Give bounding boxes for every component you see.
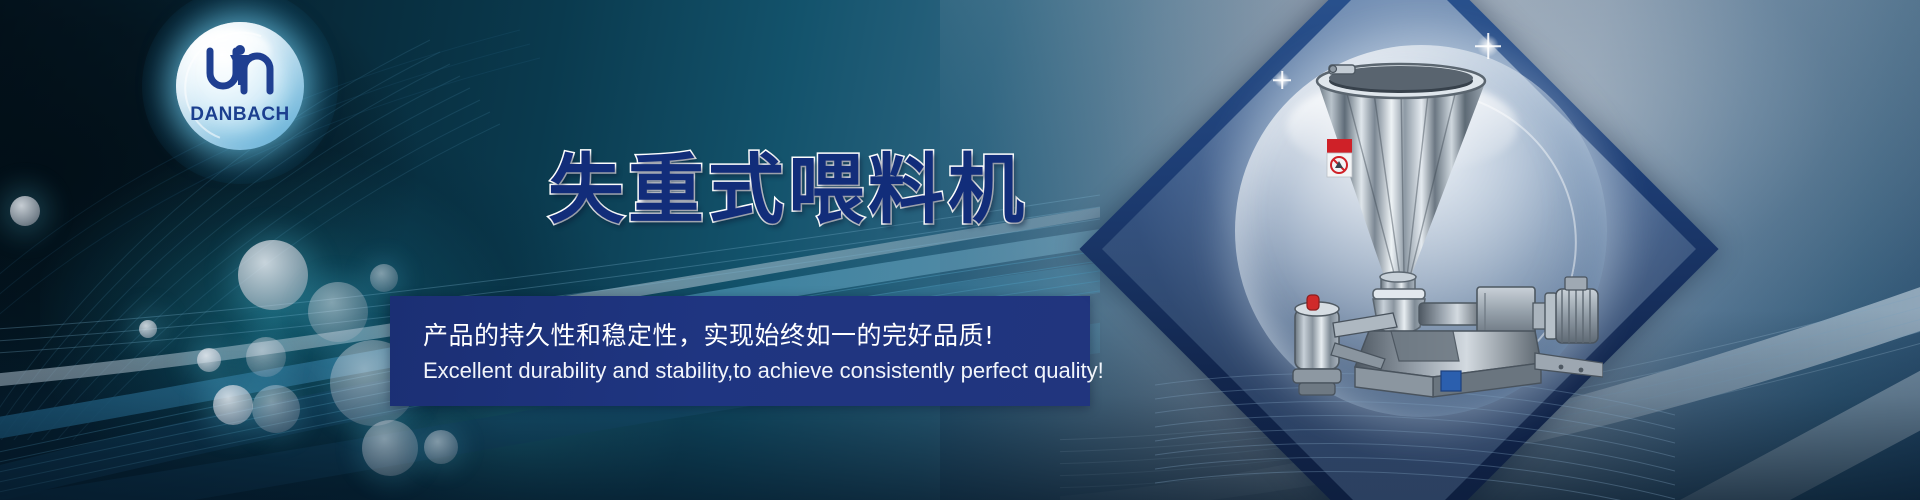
page-title: 失重式喂料机 (548, 128, 1028, 238)
brand-logo[interactable]: DANBACH (176, 22, 304, 150)
loss-in-weight-feeder-machine-image (1273, 31, 1603, 451)
subtitle-panel: 产品的持久性和稳定性，实现始终如一的完好品质! Excellent durabi… (390, 296, 1090, 406)
brand-wordmark: DANBACH (176, 104, 304, 126)
subtitle-english: Excellent durability and stability,to ac… (423, 358, 1104, 384)
subtitle-chinese: 产品的持久性和稳定性，实现始终如一的完好品质! (423, 316, 995, 352)
danbach-monogram-icon (176, 41, 304, 101)
product-showcase (1095, 0, 1705, 500)
product-banner: DANBACH 失重式喂料机 产品的持久性和稳定性，实现始终如一的完好品质! E… (0, 0, 1920, 500)
